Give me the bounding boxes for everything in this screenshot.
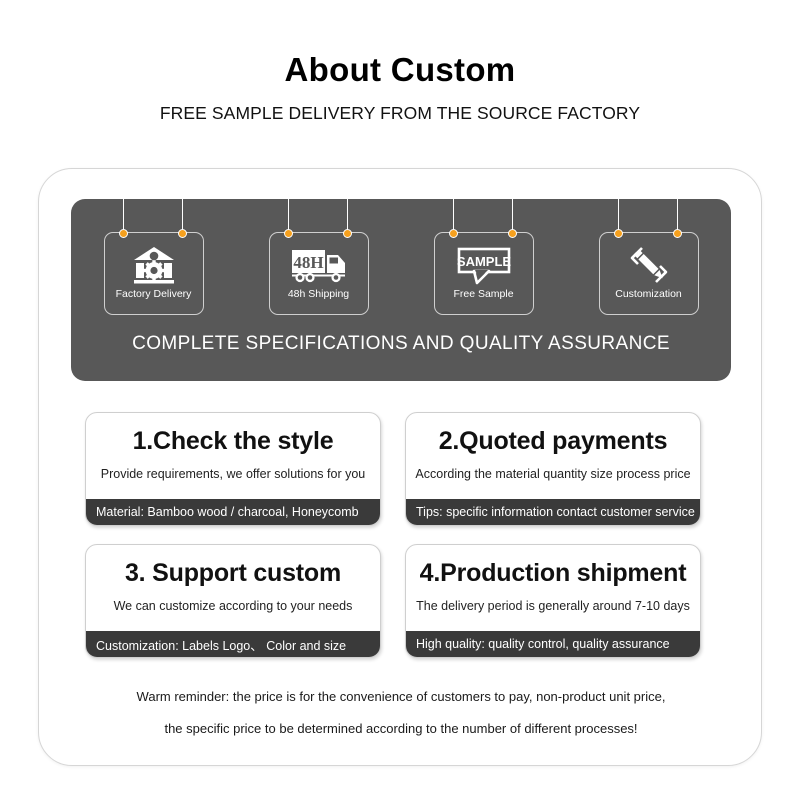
svg-text:48H: 48H [293,253,323,272]
factory-building-gear-icon [131,243,177,287]
page-title: About Custom [0,52,800,88]
step-card-title: 4.Production shipment [420,559,687,588]
hanging-dot-right [673,229,682,238]
badge-factory-delivery[interactable]: Factory Delivery [104,199,204,315]
step-card-description: The delivery period is generally around … [416,599,690,613]
delivery-truck-48h-icon: 48H [291,243,347,287]
step-card-title: 3. Support custom [125,559,341,588]
badge-sign: SAMPLE Free Sample [434,232,534,315]
hanging-dot-left [284,229,293,238]
warm-reminder-line-1: Warm reminder: the price is for the conv… [39,681,763,713]
steps-grid: 1.Check the style Provide requirements, … [85,412,719,658]
step-card-description: We can customize according to your needs [114,599,353,613]
badge-label: Factory Delivery [116,288,192,300]
step-card-strip: Customization: Labels Logo、 Color and si… [86,631,380,657]
step-card-strip: Tips: specific information contact custo… [406,499,700,525]
badge-row: Factory Delivery 48H [71,199,731,327]
badge-label: Customization [615,288,682,300]
step-card-2[interactable]: 2.Quoted payments According the material… [405,412,701,526]
step-card-strip: Material: Bamboo wood / charcoal, Honeyc… [86,499,380,525]
panel-banner-text: COMPLETE SPECIFICATIONS AND QUALITY ASSU… [71,333,731,355]
pencil-ruler-icon [626,243,672,287]
badge-free-sample[interactable]: SAMPLE Free Sample [434,199,534,315]
badge-customization[interactable]: Customization [599,199,699,315]
step-card-description: Provide requirements, we offer solutions… [101,467,365,481]
step-card-description: According the material quantity size pro… [415,467,690,481]
badge-48h-shipping[interactable]: 48H 48h [269,199,369,315]
step-card-1[interactable]: 1.Check the style Provide requirements, … [85,412,381,526]
warm-reminder-line-2: the specific price to be determined acco… [39,713,763,745]
content-container: Factory Delivery 48H [38,168,762,766]
hanging-dot-right [508,229,517,238]
hanging-dot-left [614,229,623,238]
warm-reminder-note: Warm reminder: the price is for the conv… [39,681,763,745]
page-subtitle: FREE SAMPLE DELIVERY FROM THE SOURCE FAC… [0,103,800,124]
step-card-3[interactable]: 3. Support custom We can customize accor… [85,544,381,658]
svg-text:SAMPLE: SAMPLE [457,254,511,269]
step-card-strip: High quality: quality control, quality a… [406,631,700,657]
about-custom-page: About Custom FREE SAMPLE DELIVERY FROM T… [0,0,800,800]
hanging-dot-left [449,229,458,238]
feature-panel: Factory Delivery 48H [71,199,731,381]
sample-speech-bubble-icon: SAMPLE [457,243,511,287]
badge-sign: Factory Delivery [104,232,204,315]
badge-sign: 48H 48h [269,232,369,315]
hanging-dot-left [119,229,128,238]
step-card-4[interactable]: 4.Production shipment The delivery perio… [405,544,701,658]
step-card-title: 2.Quoted payments [439,427,668,456]
badge-sign: Customization [599,232,699,315]
badge-label: 48h Shipping [288,288,349,300]
page-header: About Custom FREE SAMPLE DELIVERY FROM T… [0,52,800,124]
badge-label: Free Sample [453,288,513,300]
hanging-dot-right [343,229,352,238]
step-card-title: 1.Check the style [133,427,334,456]
hanging-dot-right [178,229,187,238]
